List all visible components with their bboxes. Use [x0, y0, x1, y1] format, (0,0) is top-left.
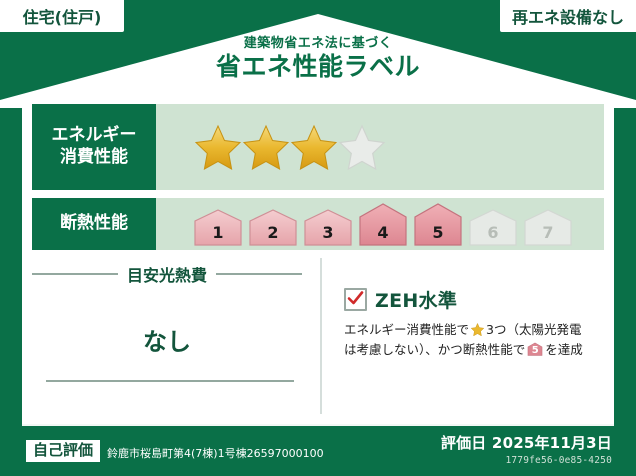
energy-label-line2: 消費性能: [60, 147, 128, 169]
energy-label-root: 住宅(住戸) 再エネ設備なし 建築物省エネ法に基づく 省エネ性能ラベル エネルギ…: [0, 0, 636, 476]
self-evaluation-badge: 自己評価: [26, 440, 100, 462]
utility-cost-header: 目安光熱費: [32, 262, 320, 286]
star-empty-icon: [336, 122, 388, 172]
insulation-level-6: 6: [467, 207, 519, 247]
insulation-level-5: 5: [412, 201, 464, 247]
insulation-level-number: 3: [302, 223, 354, 242]
insulation-level-number: 5: [412, 223, 464, 242]
utility-cost-value: なし: [32, 322, 320, 357]
zeh-description: エネルギー消費性能で3つ（太陽光発電 は考慮しない）、かつ断熱性能で5を達成: [344, 320, 604, 361]
footer-left: 自己評価 鈴鹿市桜島町第4(7棟)1号棟26597000100: [26, 440, 324, 462]
inline-star-icon: [470, 322, 485, 337]
evaluation-date: 評価日 2025年11月3日: [441, 432, 612, 453]
page-title: 省エネ性能ラベル: [0, 53, 636, 82]
footer-divider: [22, 424, 614, 426]
star-filled-icon: [240, 122, 292, 172]
insulation-level-1: 1: [192, 207, 244, 247]
tag-renewable-energy: 再エネ設備なし: [500, 0, 636, 32]
insulation-level-2: 2: [247, 207, 299, 247]
check-icon: [347, 290, 364, 307]
zeh-desc-part3: を達成: [545, 342, 583, 357]
energy-label-line1: エネルギー: [52, 125, 137, 147]
insulation-performance-label: 断熱性能: [32, 198, 156, 250]
energy-performance-body: [156, 104, 604, 190]
cost-rule-right: [216, 273, 302, 275]
insulation-level-4: 4: [357, 201, 409, 247]
insulation-level-number: 2: [247, 223, 299, 242]
zeh-desc-part1: エネルギー消費性能で: [344, 322, 469, 337]
header-subtitle: 建築物省エネ法に基づく: [0, 36, 636, 52]
insulation-scale: 1 2 3: [192, 201, 574, 247]
header: 建築物省エネ法に基づく 省エネ性能ラベル: [0, 36, 636, 81]
zeh-desc-stars: 3つ（太陽光発電: [486, 322, 581, 337]
zeh-panel: ZEH水準 エネルギー消費性能で3つ（太陽光発電 は考慮しない）、かつ断熱性能で…: [322, 258, 604, 414]
property-address: 鈴鹿市桜島町第4(7棟)1号棟26597000100: [107, 442, 324, 461]
star-rating: [192, 122, 384, 172]
insulation-level-number: 1: [192, 223, 244, 242]
insulation-performance-row: 断熱性能 1 2: [32, 198, 604, 250]
zeh-title: ZEH水準: [375, 286, 457, 313]
utility-cost-title: 目安光熱費: [118, 262, 216, 286]
inline-badge-number: 5: [527, 343, 543, 359]
cost-rule-left: [32, 273, 118, 275]
inline-level-badge: 5: [527, 342, 543, 356]
star-filled-icon: [288, 122, 340, 172]
evaluation-id: 1779fe56-0e85-4250: [441, 455, 612, 466]
insulation-level-7: 7: [522, 207, 574, 247]
label-card: エネルギー 消費性能: [22, 96, 614, 424]
footer-right: 評価日 2025年11月3日 1779fe56-0e85-4250: [441, 432, 612, 466]
insulation-level-number: 4: [357, 223, 409, 242]
energy-performance-label: エネルギー 消費性能: [32, 104, 156, 190]
footer: 自己評価 鈴鹿市桜島町第4(7棟)1号棟26597000100 評価日 2025…: [0, 424, 636, 476]
energy-performance-row: エネルギー 消費性能: [32, 104, 604, 190]
insulation-level-3: 3: [302, 207, 354, 247]
zeh-header: ZEH水準: [344, 286, 604, 313]
lower-section: 目安光熱費 なし ZEH水準 エネルギー消費性能で3つ（太陽光発電: [32, 258, 604, 414]
utility-cost-panel: 目安光熱費 なし: [32, 258, 322, 414]
zeh-checkbox[interactable]: [344, 288, 367, 311]
cost-bottom-rule: [46, 380, 294, 382]
star-filled-icon: [192, 122, 244, 172]
tag-building-type: 住宅(住戸): [0, 0, 124, 32]
zeh-desc-part2: は考慮しない）、かつ断熱性能で: [344, 342, 525, 357]
insulation-level-number: 7: [522, 223, 574, 242]
insulation-level-number: 6: [467, 223, 519, 242]
insulation-performance-body: 1 2 3: [156, 198, 604, 250]
